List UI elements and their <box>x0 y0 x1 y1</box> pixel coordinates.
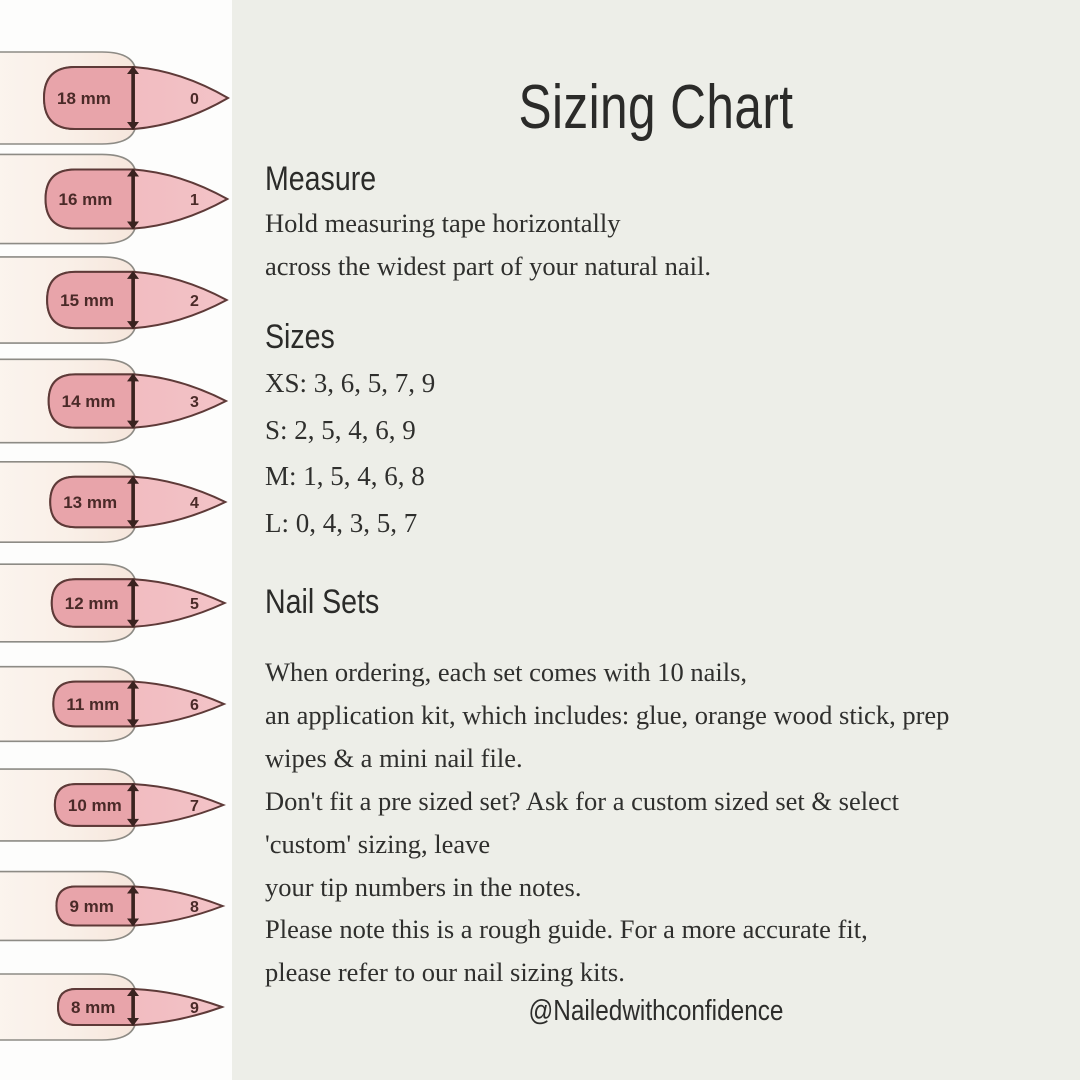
svg-text:7: 7 <box>190 798 199 815</box>
svg-text:4: 4 <box>190 495 199 512</box>
svg-text:10 mm: 10 mm <box>68 796 122 815</box>
nail-sets-line-1: When ordering, each set comes with 10 na… <box>265 651 1055 694</box>
svg-text:16 mm: 16 mm <box>59 190 113 209</box>
svg-text:2: 2 <box>190 293 199 310</box>
sizes-heading: Sizes <box>265 318 929 356</box>
svg-text:9 mm: 9 mm <box>69 897 113 916</box>
svg-text:14 mm: 14 mm <box>62 392 116 411</box>
svg-text:18 mm: 18 mm <box>57 89 111 108</box>
nail-sets-line-4: Don't fit a pre sized set? Ask for a cus… <box>265 780 1055 823</box>
svg-text:0: 0 <box>190 91 199 108</box>
nail-size-row: 16 mm 1 16 mm1 <box>0 149 232 250</box>
nail-size-row: 11 mm 6 11 mm6 <box>0 654 232 755</box>
nail-size-row: 15 mm 2 15 mm2 <box>0 250 232 351</box>
spacer-nailsets-body <box>265 625 1055 651</box>
sizes-row-xs: XS: 3, 6, 5, 7, 9 <box>265 360 1055 407</box>
svg-text:8: 8 <box>190 899 199 916</box>
nail-sets-heading: Nail Sets <box>265 583 929 621</box>
nail-sets-line-6: your tip numbers in the notes. <box>265 866 1055 909</box>
nail-sets-line-3: wipes & a mini nail file. <box>265 737 1055 780</box>
svg-text:5: 5 <box>190 596 199 613</box>
nail-size-row: 8 mm 9 8 mm9 <box>0 957 232 1058</box>
info-content: Measure Hold measuring tape horizontally… <box>265 160 1055 994</box>
svg-text:11 mm: 11 mm <box>66 695 119 714</box>
svg-text:15 mm: 15 mm <box>60 291 114 310</box>
svg-text:13 mm: 13 mm <box>63 493 117 512</box>
page-title: Sizing Chart <box>317 72 995 143</box>
svg-text:8 mm: 8 mm <box>71 998 115 1017</box>
info-panel: Sizing Chart Measure Hold measuring tape… <box>232 0 1080 1080</box>
svg-text:3: 3 <box>190 394 199 411</box>
svg-text:9: 9 <box>190 1000 199 1017</box>
svg-text:6: 6 <box>190 697 199 714</box>
measure-line-2: across the widest part of your natural n… <box>265 245 1055 288</box>
sizes-row-s: S: 2, 5, 4, 6, 9 <box>265 407 1055 454</box>
svg-text:12 mm: 12 mm <box>65 594 119 613</box>
spacer-measure-sizes <box>265 288 1055 318</box>
sizes-row-m: M: 1, 5, 4, 6, 8 <box>265 453 1055 500</box>
sizes-row-l: L: 0, 4, 3, 5, 7 <box>265 500 1055 547</box>
nail-size-row: 9 mm 8 9 mm8 <box>0 856 232 957</box>
nail-size-row: 10 mm 7 10 mm7 <box>0 755 232 856</box>
nail-size-diagram-panel: 18 mm 0 18 mm0 16 mm 1 16 mm1 <box>0 0 232 1080</box>
nail-sets-line-5: 'custom' sizing, leave <box>265 823 1055 866</box>
nail-size-row: 13 mm 4 13 mm4 <box>0 452 232 553</box>
nail-sets-line-7: Please note this is a rough guide. For a… <box>265 908 1055 951</box>
measure-line-1: Hold measuring tape horizontally <box>265 202 1055 245</box>
nail-size-row-list: 18 mm 0 18 mm0 16 mm 1 16 mm1 <box>0 0 232 1080</box>
nail-size-row: 14 mm 3 14 mm3 <box>0 351 232 452</box>
svg-text:1: 1 <box>190 192 199 209</box>
nail-sets-line-8: please refer to our nail sizing kits. <box>265 951 1055 994</box>
nail-sets-line-2: an application kit, which includes: glue… <box>265 694 1055 737</box>
spacer-sizes-nailsets <box>265 547 1055 583</box>
sizing-chart-page: 18 mm 0 18 mm0 16 mm 1 16 mm1 <box>0 0 1080 1080</box>
nail-size-row: 12 mm 5 12 mm5 <box>0 553 232 654</box>
measure-heading: Measure <box>265 160 929 198</box>
nail-size-row: 18 mm 0 18 mm0 <box>0 48 232 149</box>
brand-handle: @Nailedwithconfidence <box>300 995 1012 1028</box>
